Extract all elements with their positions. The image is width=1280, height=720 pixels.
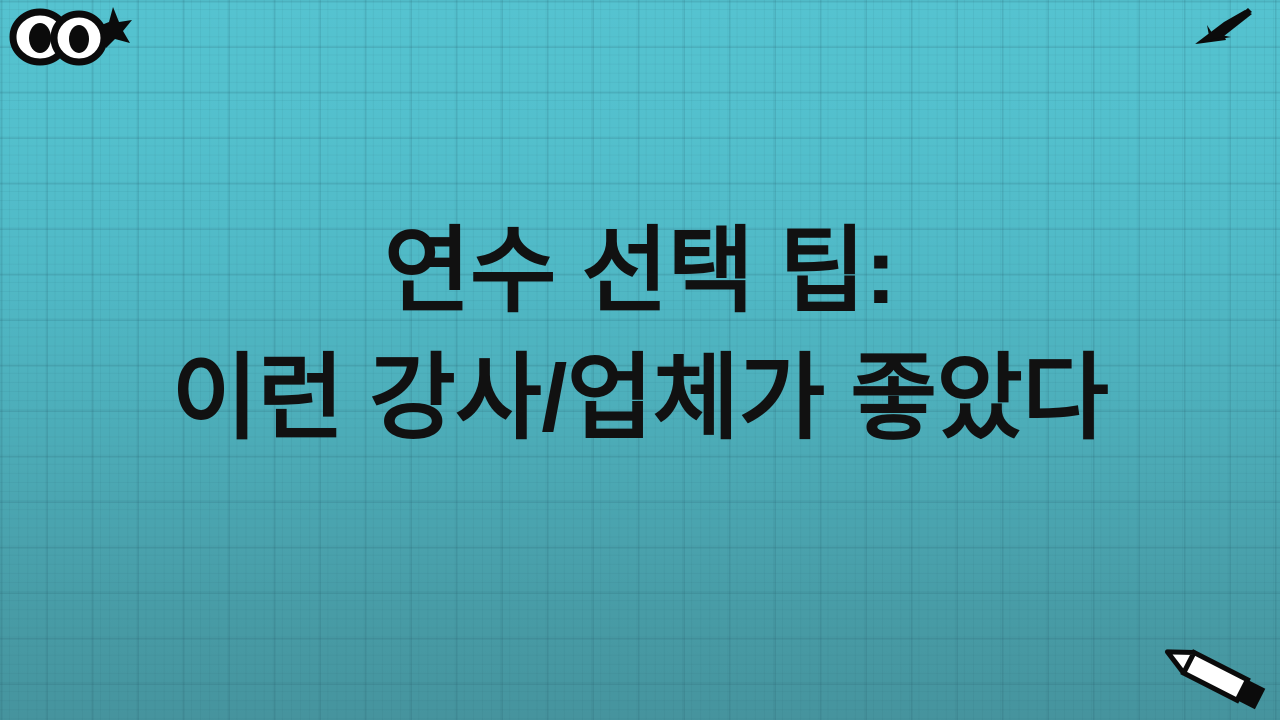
title-line-1: 연수 선택 팁: [24, 208, 1256, 335]
slide-canvas: 연수 선택 팁: 이런 강사/업체가 좋았다 [0, 0, 1280, 720]
title-line-2: 이런 강사/업체가 좋았다 [24, 335, 1256, 462]
arrow-doodle [1190, 6, 1254, 56]
eyes-doodle [6, 2, 132, 68]
pencil-doodle [1154, 636, 1274, 714]
star-icon [99, 7, 132, 48]
eyes-icon [13, 12, 104, 62]
page-title: 연수 선택 팁: 이런 강사/업체가 좋았다 [0, 208, 1280, 462]
